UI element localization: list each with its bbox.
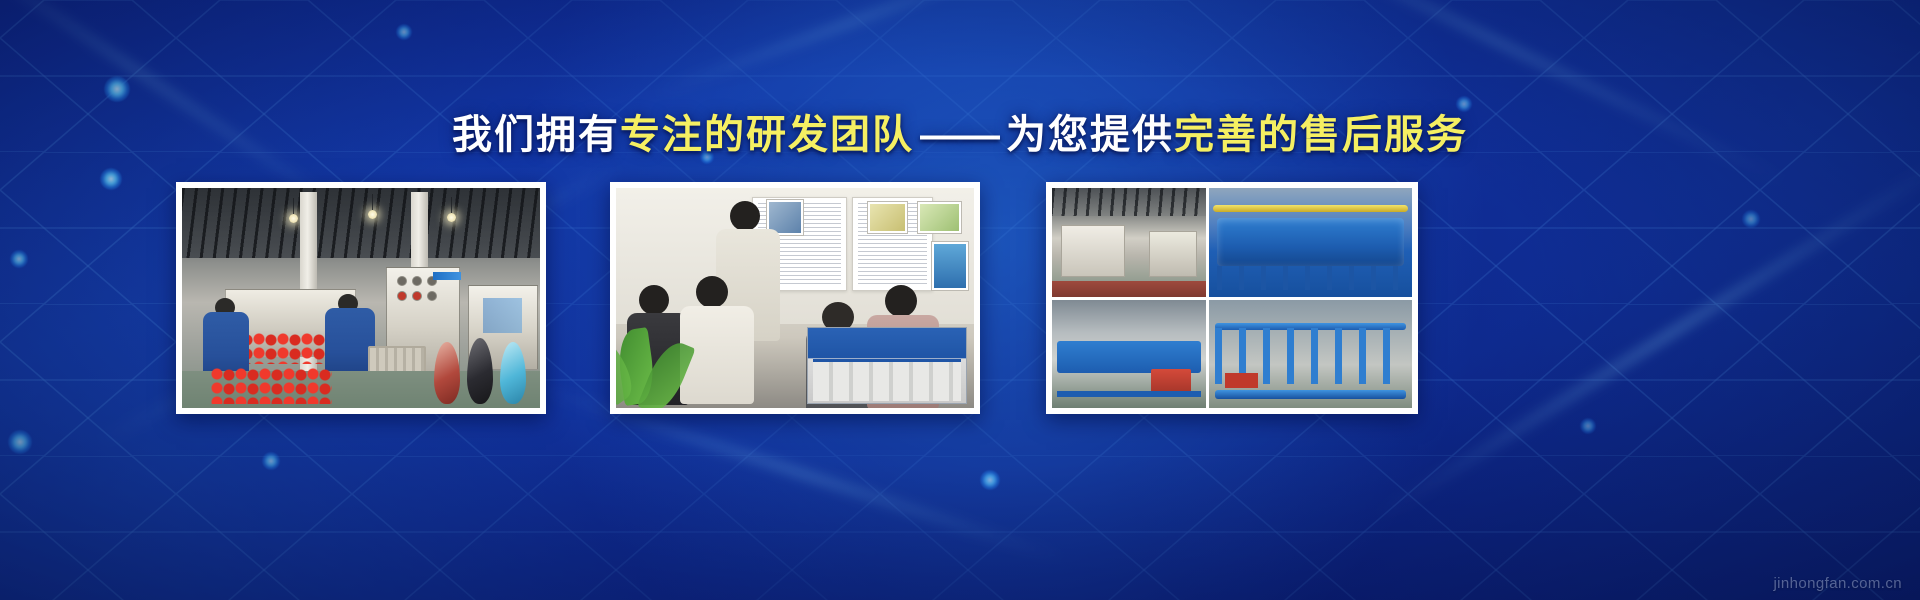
photo-panel-factory-line[interactable]: [176, 182, 546, 414]
collage-cell-hanger-line: [1209, 300, 1412, 409]
photo-panel-facility-collage[interactable]: [1046, 182, 1418, 414]
collage-cell-conveyor: [1052, 300, 1206, 409]
photo-facility-collage: [1052, 188, 1412, 408]
photo-panel-team-meeting[interactable]: [610, 182, 980, 414]
page-title: 我们拥有专注的研发团队——为您提供完善的售后服务: [0, 109, 1920, 161]
collage-cell-coating-tunnel: [1209, 188, 1412, 297]
photo-panel-group: [0, 182, 1920, 414]
photo-factory-line: [182, 188, 540, 408]
collage-cell-workshop: [1052, 188, 1206, 297]
site-watermark: jinhongfan.com.cn: [1773, 575, 1902, 592]
headline-segment-3: 为您提供: [1006, 113, 1174, 157]
headline-dash: ——: [914, 113, 1006, 157]
headline-segment-2: 专注的研发团队: [620, 113, 914, 157]
hero-banner: 我们拥有专注的研发团队——为您提供完善的售后服务: [0, 0, 1920, 600]
headline-segment-4: 完善的售后服务: [1174, 113, 1468, 157]
photo-team-meeting: [616, 188, 974, 408]
headline-segment-1: 我们拥有: [452, 113, 620, 157]
